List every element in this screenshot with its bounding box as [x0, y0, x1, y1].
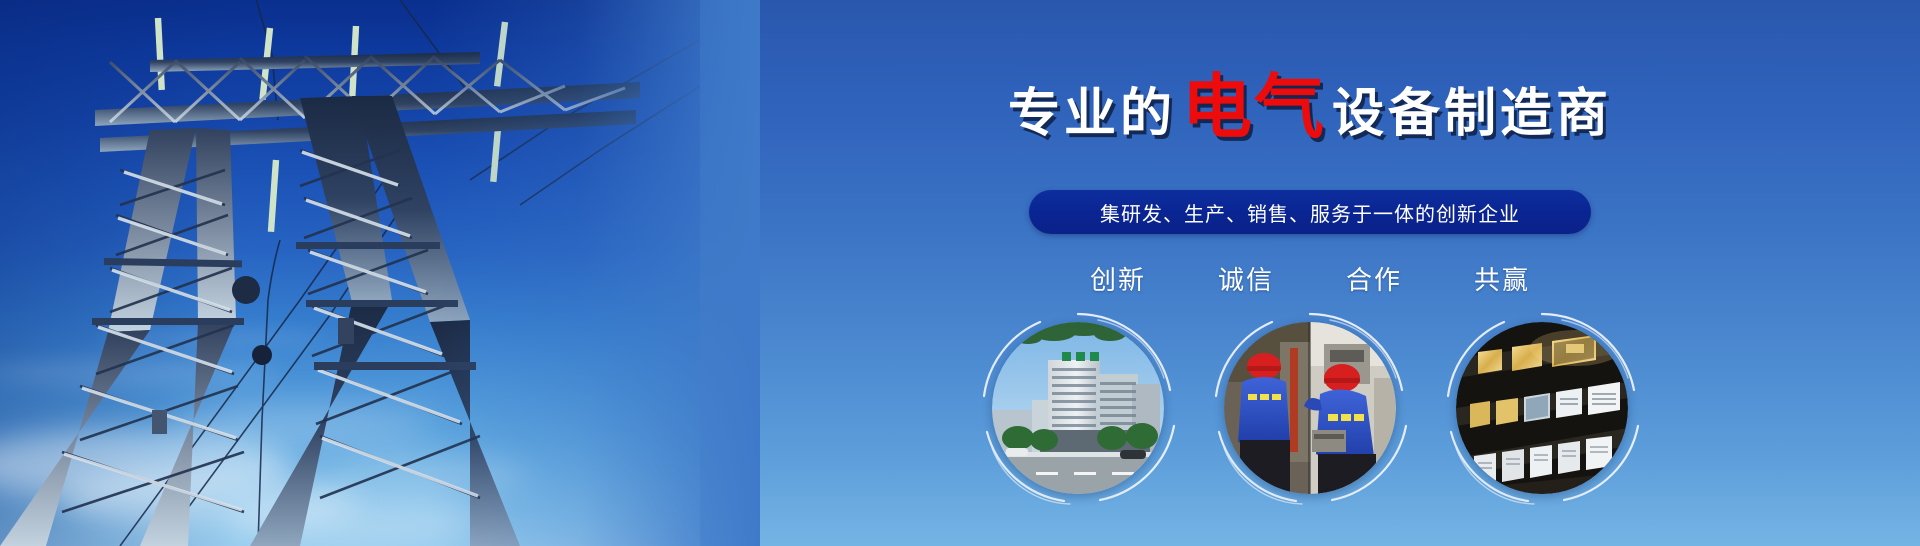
- headline-highlight: 电气: [1182, 68, 1326, 146]
- tagline-text: 集研发、生产、销售、服务于一体的创新企业: [1100, 198, 1520, 227]
- keyword-innovation: 创新: [1090, 260, 1146, 297]
- keyword-cooperation: 合作: [1346, 260, 1402, 297]
- photo-circle-row: [700, 322, 1920, 494]
- certificate-wall-photo: [1456, 322, 1628, 494]
- banner-content: 专业的电气设备制造商 集研发、生产、销售、服务于一体的创新企业 创新 诚信 合作…: [700, 0, 1920, 546]
- tagline-pill: 集研发、生产、销售、服务于一体的创新企业: [1029, 190, 1591, 234]
- keyword-integrity: 诚信: [1218, 260, 1274, 297]
- transmission-tower-photo: [0, 0, 700, 546]
- photo-circle-technicians: [1224, 322, 1396, 494]
- headline-suffix: 设备制造商: [1332, 85, 1612, 143]
- photo-circle-certificates: [1456, 322, 1628, 494]
- keyword-row: 创新 诚信 合作 共赢: [700, 260, 1920, 297]
- technicians-photo: [1224, 322, 1396, 494]
- promo-banner: 专业的电气设备制造商 集研发、生产、销售、服务于一体的创新企业 创新 诚信 合作…: [0, 0, 1920, 546]
- keyword-winwin: 共赢: [1474, 260, 1530, 297]
- photo-circle-building: [992, 322, 1164, 494]
- page-title: 专业的电气设备制造商: [700, 72, 1920, 142]
- headline-prefix: 专业的: [1008, 85, 1176, 143]
- building-photo: [992, 322, 1164, 494]
